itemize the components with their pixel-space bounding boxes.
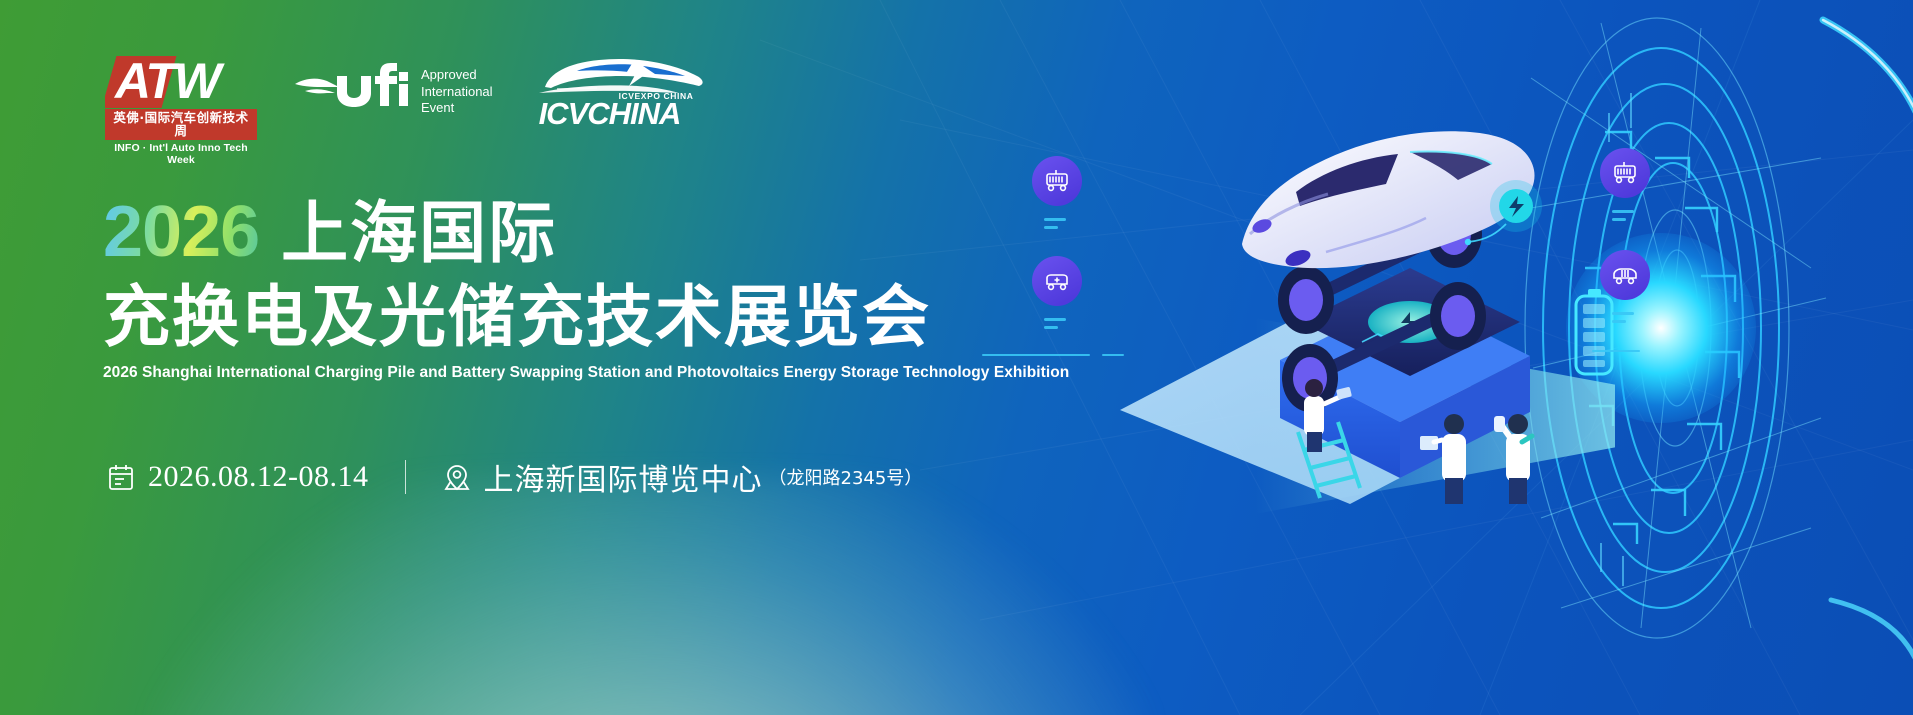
badge-bus-charging-left[interactable] [1032, 156, 1082, 206]
headline-block: 2026 上海国际 充换电及光储充技术展览会 2026 Shanghai Int… [103, 196, 1069, 382]
ufi-logo-mark [293, 62, 411, 110]
engineer-right [1494, 414, 1532, 504]
atw-logo-chinese: 英佛·国际汽车创新技术周 [105, 109, 257, 140]
map-pin-icon [442, 462, 472, 492]
atw-logo-english: INFO · Int'l Auto Inno Tech Week [105, 142, 257, 166]
icv-wordmark: ICVCHINA [539, 98, 681, 129]
background-glow-bottom-left [150, 475, 1150, 715]
calendar-icon [106, 462, 136, 492]
connector-node [1465, 239, 1471, 245]
atw-logo-letters: ATW [115, 56, 257, 108]
battery-level-icon [1576, 289, 1612, 374]
event-banner: ATW 英佛·国际汽车创新技术周 INFO · Int'l Auto Inno … [0, 0, 1913, 715]
event-date: 2026.08.12-08.14 [148, 460, 369, 494]
decor-line-short [1102, 354, 1124, 356]
badge-car-charging-right[interactable] [1600, 250, 1650, 300]
headline-city: 上海国际 [281, 200, 557, 267]
badge-van-charging-left[interactable] [1032, 256, 1082, 306]
badge-underline-5 [1612, 210, 1634, 213]
badge-underline-2 [1044, 226, 1058, 229]
atw-logo-mark: ATW [105, 56, 257, 108]
ufi-line-1: Approved [421, 67, 493, 84]
ev-illustration-svg [1110, 110, 1670, 510]
car-charging-icon [1611, 261, 1639, 289]
event-venue: 上海新国际博览中心 [484, 455, 763, 499]
badge-underline-4 [1044, 326, 1058, 329]
ufi-line-2: International [421, 84, 493, 101]
sponsor-logo-row: ATW 英佛·国际汽车创新技术周 INFO · Int'l Auto Inno … [105, 56, 711, 136]
ufi-approval-text: Approved International Event [421, 67, 493, 117]
badge-bus-charging-right[interactable] [1600, 148, 1650, 198]
headline-english: 2026 Shanghai International Charging Pil… [103, 364, 1069, 382]
lightning-bolt-icon [1490, 180, 1542, 232]
event-year: 2026 [103, 196, 259, 268]
ufi-logo[interactable]: Approved International Event [293, 62, 493, 117]
bus-charging-icon [1611, 159, 1639, 187]
badge-underline-1 [1044, 218, 1066, 221]
event-date-item: 2026.08.12-08.14 [106, 460, 369, 494]
bus-charging-icon [1043, 167, 1071, 195]
headline-line-2: 充换电及光储充技术展览会 [103, 284, 1069, 351]
badge-underline-3 [1044, 318, 1066, 321]
decor-line-long [982, 354, 1090, 356]
event-address: （龙阳路2345号） [769, 464, 923, 490]
atw-logo[interactable]: ATW 英佛·国际汽车创新技术周 INFO · Int'l Auto Inno … [105, 56, 257, 138]
van-charging-icon [1043, 267, 1071, 295]
meta-divider [405, 460, 406, 494]
decor-line-right [1592, 350, 1640, 352]
event-venue-item: 上海新国际博览中心 （龙阳路2345号） [442, 455, 923, 499]
headline-line-1: 2026 上海国际 [103, 196, 1069, 274]
ufi-line-3: Event [421, 100, 493, 117]
event-meta-row: 2026.08.12-08.14 上海新国际博览中心 （龙阳路2345号） [106, 455, 922, 499]
ev-platform-illustration [1110, 110, 1670, 510]
badge-underline-8 [1612, 320, 1626, 323]
ev-car-body [1242, 131, 1535, 269]
icv-china-logo[interactable]: ICVEXPO CHINA ICVCHINA [533, 54, 711, 126]
badge-underline-7 [1612, 312, 1634, 315]
badge-underline-6 [1612, 218, 1626, 221]
ufi-wordmark-icon [293, 62, 411, 110]
